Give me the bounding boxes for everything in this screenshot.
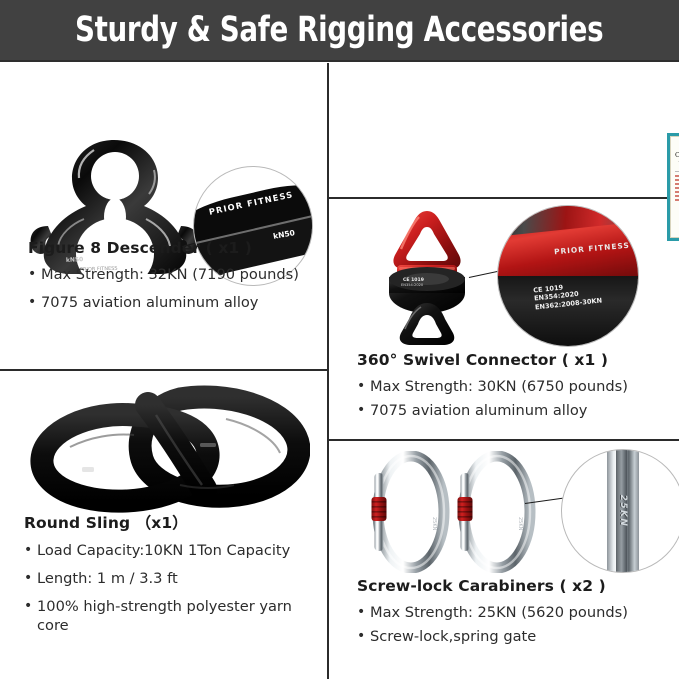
swivel-title: 360° Swivel Connector ( x1 ) <box>357 351 665 369</box>
page-header: Sturdy & Safe Rigging Accessories <box>0 0 679 62</box>
swivel-connector-image: CE 1019 EN354:2020 <box>371 207 483 347</box>
product-panel-carabiners: 25KN 25KN 25KN <box>329 441 679 679</box>
swivel-magnifier-circle: PRIOR FITNESS CE 1019 EN354:2020 EN362:2… <box>497 205 639 347</box>
spec-item: 7075 aviation aluminum alloy <box>357 402 665 421</box>
page-title: Sturdy & Safe Rigging Accessories <box>75 10 603 50</box>
sling-spec-list: Load Capacity:10KN 1Ton Capacity Length:… <box>24 542 313 636</box>
spec-item: Screw-lock,spring gate <box>357 628 665 647</box>
swivel-spec-list: Max Strength: 30KN (6750 pounds) 7075 av… <box>357 378 665 421</box>
certificate-row <box>675 195 679 196</box>
svg-text:25KN: 25KN <box>517 517 523 531</box>
spec-item: Max Strength: 32KN (7190 pounds) <box>28 266 313 285</box>
carabiners-spec-list: Max Strength: 25KN (5620 pounds) Screw-l… <box>357 604 665 647</box>
sling-text-block: Round Sling （x1） Load Capacity:10KN 1Ton… <box>0 511 327 645</box>
certificate-row <box>675 191 679 192</box>
round-sling-image <box>30 385 310 517</box>
spec-item: 7075 aviation aluminum alloy <box>28 294 313 313</box>
certificate-row <box>675 175 679 176</box>
certificate-heading: CERTIFICATE <box>675 152 679 159</box>
certificate-row <box>675 179 679 180</box>
swivel-text-block: 360° Swivel Connector ( x1 ) Max Strengt… <box>329 351 679 426</box>
carabiners-title: Screw-lock Carabiners ( x2 ) <box>357 577 665 595</box>
sling-title: Round Sling （x1） <box>24 511 313 533</box>
infographic-page: Sturdy & Safe Rigging Accessories <box>0 0 679 679</box>
spec-item: Length: 1 m / 3.3 ft <box>24 570 313 589</box>
certificate-row <box>675 187 679 188</box>
carabiner-magnifier-circle: 25KN <box>561 449 679 573</box>
product-panel-rohs: CERTIFICATE ATTESTATION CERTIFICATE OF G… <box>329 63 679 197</box>
product-panel-figure8: kN50 PRIOR FITNESS PRIOR FITNESS kN50 Fi… <box>0 63 327 369</box>
figure8-spec-list: Max Strength: 32KN (7190 pounds) 7075 av… <box>28 266 313 313</box>
product-panel-swivel: CE 1019 EN354:2020 PRIOR FITNESS CE 1019… <box>329 199 679 439</box>
certificate-subheading: ATTESTATION CERTIFICATE OF GENERAL PRODU… <box>675 160 679 173</box>
spec-item: Max Strength: 25KN (5620 pounds) <box>357 604 665 623</box>
carabiners-text-block: Screw-lock Carabiners ( x2 ) Max Strengt… <box>329 577 679 652</box>
certificate-body-rows <box>675 175 679 200</box>
figure8-text-block: Figure 8 Descender ( x1 ) Max Strength: … <box>0 239 327 322</box>
product-panel-sling: Round Sling （x1） Load Capacity:10KN 1Ton… <box>0 371 327 679</box>
spec-item: 100% high-strength polyester yarn core <box>24 598 313 636</box>
carabiners-image-area: 25KN 25KN 25KN <box>329 441 679 581</box>
sling-image-area <box>0 371 327 521</box>
carabiners-image: 25KN 25KN <box>371 451 541 573</box>
svg-text:EN354:2020: EN354:2020 <box>401 283 424 287</box>
figure8-title: Figure 8 Descender ( x1 ) <box>28 239 313 257</box>
certificate-row <box>675 183 679 184</box>
swivel-image-area: CE 1019 EN354:2020 PRIOR FITNESS CE 1019… <box>329 199 679 349</box>
spec-item: Load Capacity:10KN 1Ton Capacity <box>24 542 313 561</box>
svg-text:25KN: 25KN <box>431 517 437 531</box>
spec-item: Max Strength: 30KN (6750 pounds) <box>357 378 665 397</box>
magnifier-engraving-label: 25KN <box>618 495 628 528</box>
